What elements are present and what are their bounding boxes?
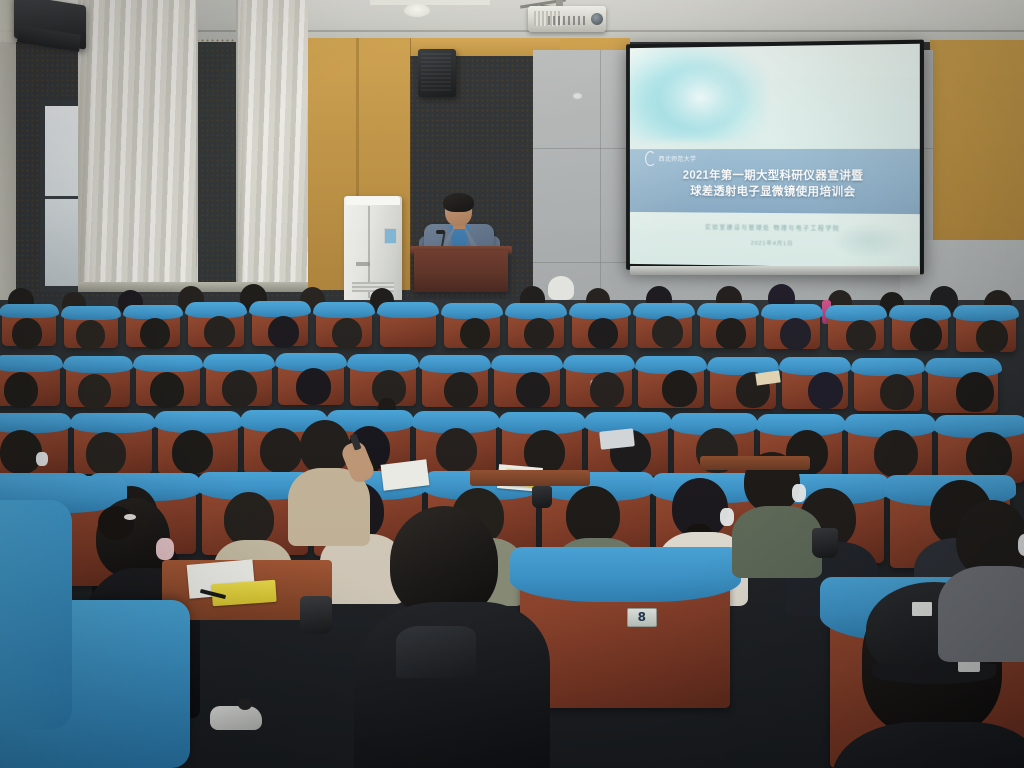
screen-bottom-bar — [630, 266, 920, 275]
ceiling-light-strip — [370, 0, 490, 5]
projected-slide: 西北师范大学 2021年第一期大型科研仪器宣讲暨 球差透射电子显微镜使用培训会 … — [630, 44, 920, 268]
seat-foreground-center: 8 — [520, 556, 740, 716]
shoe — [210, 706, 262, 730]
projector-label — [548, 16, 588, 25]
cup-holder — [300, 596, 332, 634]
air-conditioner-badge — [356, 262, 370, 266]
projection-screen[interactable]: 西北师范大学 2021年第一期大型科研仪器宣讲暨 球差透射电子显微镜使用培训会 … — [626, 40, 924, 275]
slide-title-line-1: 2021年第一期大型科研仪器宣讲暨 — [630, 168, 920, 185]
tablet-desk — [700, 456, 810, 470]
cup-holder — [532, 486, 552, 508]
shoe-detail — [238, 698, 252, 710]
air-conditioner-top — [346, 196, 400, 205]
wall-blemish — [573, 93, 582, 99]
logo-emblem-icon — [645, 151, 656, 166]
air-conditioner-display — [384, 228, 397, 244]
tablet-desk — [470, 470, 590, 486]
presenter-hair — [443, 193, 474, 212]
slide-cloud-highlight — [658, 64, 743, 130]
hair-tie — [124, 514, 136, 520]
jacket-hood — [396, 626, 476, 678]
window-curtain — [0, 0, 16, 300]
seat-side-panel — [0, 500, 72, 730]
slide-title: 2021年第一期大型科研仪器宣讲暨 球差透射电子显微镜使用培训会 — [630, 168, 920, 202]
university-logo: 西北师范大学 — [645, 151, 696, 166]
seat: 8 — [520, 556, 730, 708]
slide-title-line-2: 球差透射电子显微镜使用培训会 — [630, 184, 920, 202]
lecture-hall-photo: 西北师范大学 2021年第一期大型科研仪器宣讲暨 球差透射电子显微镜使用培训会 … — [0, 0, 1024, 768]
cup-holder — [812, 528, 838, 558]
speaker-grill — [421, 53, 451, 91]
logo-text: 西北师范大学 — [659, 154, 697, 163]
curtain-fold — [236, 0, 252, 286]
ceiling-downlight-icon — [404, 4, 430, 17]
cap-logo-icon — [912, 602, 932, 616]
window-frame — [196, 0, 238, 292]
microphone-head-icon — [436, 230, 445, 234]
paper-sheet — [599, 428, 635, 449]
projector-lens — [591, 13, 603, 25]
